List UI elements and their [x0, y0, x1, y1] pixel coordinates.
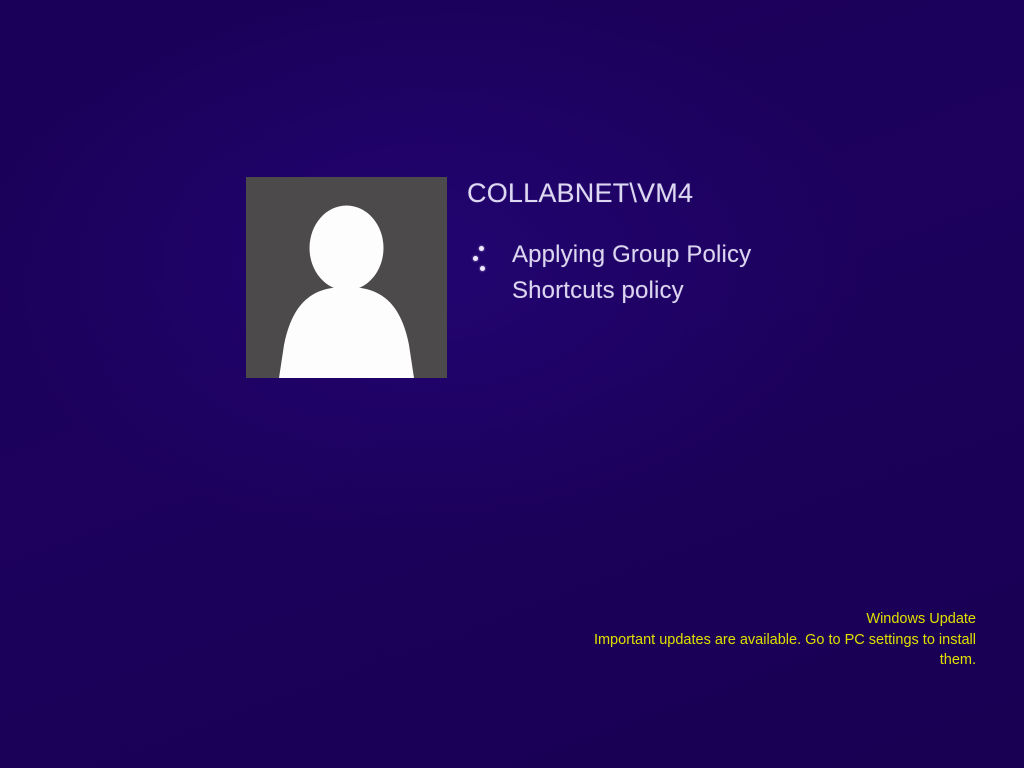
- loading-dots-spinner-icon: [467, 241, 501, 281]
- windows-logon-screen: COLLABNET\VM4 Applying Group Policy Shor…: [0, 0, 1024, 768]
- status-line-primary: Applying Group Policy: [512, 237, 987, 273]
- status-message: Applying Group Policy Shortcuts policy: [512, 237, 987, 309]
- status-line-secondary: Shortcuts policy: [512, 273, 987, 309]
- user-sign-in-block: COLLABNET\VM4 Applying Group Policy Shor…: [246, 177, 986, 387]
- spinner-dot-2: [473, 256, 478, 261]
- windows-update-title: Windows Update: [556, 609, 976, 629]
- spinner-dot-1: [479, 246, 484, 251]
- windows-update-notification: Windows Update Important updates are ava…: [556, 609, 976, 670]
- user-avatar-tile: [246, 177, 447, 378]
- account-name: COLLABNET\VM4: [467, 177, 987, 209]
- windows-update-body: Important updates are available. Go to P…: [556, 630, 976, 670]
- user-text-column: COLLABNET\VM4: [467, 177, 987, 209]
- spinner-dot-3: [480, 266, 485, 271]
- default-user-avatar-icon: [246, 177, 447, 378]
- status-row: Applying Group Policy Shortcuts policy: [467, 237, 987, 309]
